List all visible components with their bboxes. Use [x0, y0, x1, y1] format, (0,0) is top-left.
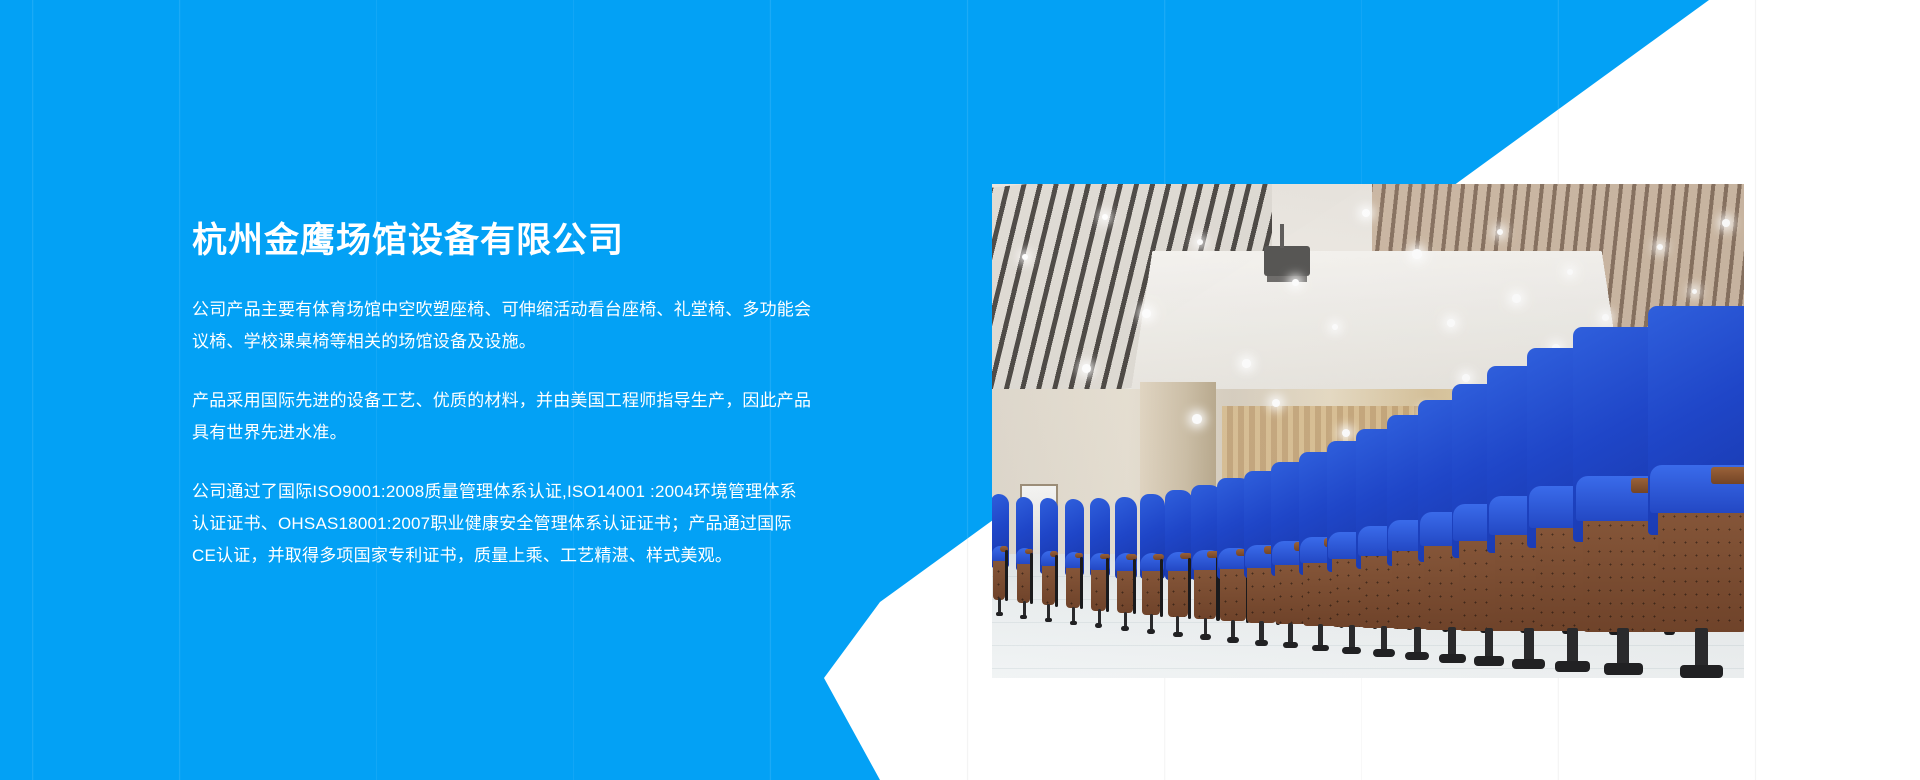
seat-floor-mount [1283, 642, 1299, 648]
photo-auditorium-seat [1165, 490, 1194, 635]
photo-ceiling-light [1602, 314, 1609, 321]
photo-ceiling-light [1512, 294, 1521, 303]
photo-ceiling-light [1242, 359, 1251, 368]
photo-ceiling-light [1192, 414, 1202, 424]
auditorium-photo-canvas [992, 184, 1744, 678]
seat-floor-mount [1147, 629, 1156, 634]
photo-ceiling-light [1362, 209, 1370, 217]
photo-auditorium-seat [1015, 497, 1033, 617]
photo-auditorium-seat [1114, 497, 1137, 629]
photo-ceiling-light [1082, 364, 1091, 373]
seat-armrest [1711, 467, 1744, 484]
seat-floor-mount [1255, 640, 1269, 646]
auditorium-photo [992, 184, 1744, 678]
photo-ceiling-light [1447, 319, 1455, 327]
photo-projector [1264, 246, 1310, 276]
photo-auditorium-seat [992, 494, 1009, 614]
seat-floor-mount [1020, 615, 1027, 619]
page-title: 杭州金鹰场馆设备有限公司 [192, 220, 812, 262]
seat-side-strap [1005, 550, 1008, 600]
seat-side-strap [1133, 559, 1136, 615]
hero-text-column: 杭州金鹰场馆设备有限公司 公司产品主要有体育场馆中空吹塑座椅、可伸缩活动看台座椅… [192, 220, 812, 572]
seat-floor-mount [996, 612, 1003, 616]
seat-floor-mount [1604, 663, 1643, 675]
seat-floor-mount [1173, 632, 1183, 637]
seat-floor-mount [1045, 618, 1052, 622]
photo-auditorium-seat [1139, 494, 1165, 632]
photo-ceiling-light [1412, 249, 1422, 259]
seat-side-strap [1160, 559, 1163, 617]
seat-side-strap [1030, 553, 1033, 604]
photo-auditorium-seat [1089, 498, 1110, 626]
photo-ceiling-light [1022, 254, 1028, 260]
seat-floor-mount [1121, 626, 1129, 631]
seat-side-strap [1055, 555, 1058, 606]
seat-floor-mount [1227, 637, 1239, 643]
description-paragraph-2: 产品采用国际先进的设备工艺、优质的材料，并由美国工程师指导生产，因此产品具有世界… [192, 385, 812, 449]
seat-floor-mount [1680, 665, 1723, 678]
seat-side-strap [1080, 557, 1083, 609]
photo-ceiling-light [1292, 279, 1299, 286]
photo-auditorium-seat [1645, 306, 1744, 676]
description-paragraph-3: 公司通过了国际ISO9001:2008质量管理体系认证,ISO14001 :20… [192, 476, 812, 572]
seat-side-strap [1106, 558, 1109, 612]
seat-floor-mount [1095, 623, 1102, 627]
description-paragraph-1: 公司产品主要有体育场馆中空吹塑座椅、可伸缩活动看台座椅、礼堂椅、多功能会议椅、学… [192, 294, 812, 358]
seat-floor-mount [1070, 621, 1077, 625]
photo-ceiling-light [1722, 219, 1730, 227]
photo-auditorium-seat [1040, 498, 1059, 620]
hero-banner: 杭州金鹰场馆设备有限公司 公司产品主要有体育场馆中空吹塑座椅、可伸缩活动看台座椅… [0, 0, 1920, 780]
photo-auditorium-seat [1064, 499, 1084, 623]
photo-ceiling-light [1142, 309, 1151, 318]
seat-floor-mount [1200, 634, 1211, 639]
